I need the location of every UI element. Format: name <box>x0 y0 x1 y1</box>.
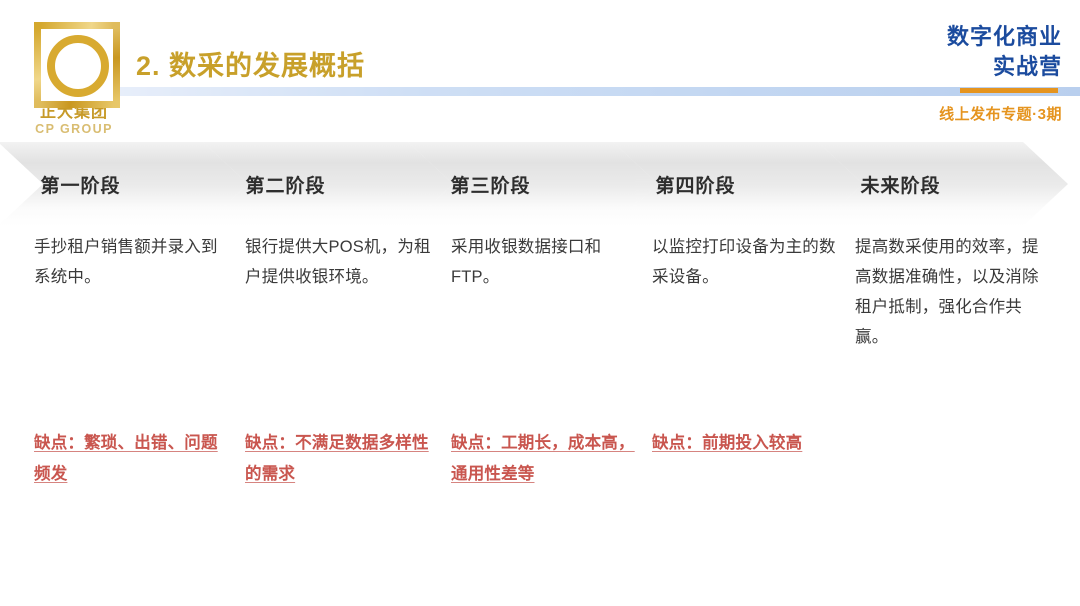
stage-chevron-band: 第一阶段 第二阶段 第三阶段 第四阶段 未来阶段 <box>0 142 1080 226</box>
logo-ring-shape <box>47 35 109 97</box>
stage-label-4: 第四阶段 <box>613 142 778 226</box>
stage-drawback-text-2: 缺点：不满足数据多样性的需求 <box>245 434 429 483</box>
stage-description-3: 采用收银数据接口和FTP。 <box>451 232 641 292</box>
stage-label-5: 未来阶段 <box>818 142 983 226</box>
stage-drawback-row: 缺点：繁琐、出错、问题频发 缺点：不满足数据多样性的需求 缺点：工期长，成本高，… <box>0 428 1080 508</box>
slide-header: 正大集团 CP GROUP 2. 数采的发展概括 数字化商业 实战营 线上发布专… <box>0 0 1080 140</box>
stage-description-row: 手抄租户销售额并录入到系统中。 银行提供大POS机，为租户提供收银环境。 采用收… <box>0 232 1080 407</box>
brand-title-line2: 实战营 <box>872 52 1062 82</box>
stage-label-3: 第三阶段 <box>408 142 573 226</box>
brand-subtitle: 线上发布专题·3期 <box>872 103 1062 124</box>
stage-label-1: 第一阶段 <box>0 142 163 226</box>
stage-drawback-3: 缺点：工期长，成本高，通用性差等 <box>451 428 641 490</box>
stage-drawback-4: 缺点：前期投入较高 <box>652 428 842 459</box>
title-accent-rule <box>960 88 1058 93</box>
stage-drawback-text-1: 缺点：繁琐、出错、问题频发 <box>34 434 218 483</box>
cp-group-ring-icon <box>34 22 114 102</box>
stage-drawback-2: 缺点：不满足数据多样性的需求 <box>245 428 435 490</box>
stage-drawback-text-4: 缺点：前期投入较高 <box>652 434 802 452</box>
cp-group-logo: 正大集团 CP GROUP <box>22 22 126 134</box>
stage-description-4: 以监控打印设备为主的数采设备。 <box>652 232 842 292</box>
stage-drawback-1: 缺点：繁琐、出错、问题频发 <box>34 428 224 490</box>
title-divider-rule <box>120 87 1080 96</box>
stage-description-5: 提高数采使用的效率，提高数据准确性，以及消除租户抵制，强化合作共赢。 <box>855 232 1045 352</box>
logo-name-en: CP GROUP <box>22 122 126 136</box>
brand-title-line1: 数字化商业 <box>872 22 1062 52</box>
stage-description-1: 手抄租户销售额并录入到系统中。 <box>34 232 224 292</box>
page-title: 2. 数采的发展概括 <box>136 44 365 83</box>
stage-drawback-text-3: 缺点：工期长，成本高，通用性差等 <box>451 434 635 483</box>
stage-description-2: 银行提供大POS机，为租户提供收银环境。 <box>245 232 435 292</box>
stage-label-2: 第二阶段 <box>203 142 368 226</box>
brand-title: 数字化商业 实战营 <box>872 22 1062 82</box>
